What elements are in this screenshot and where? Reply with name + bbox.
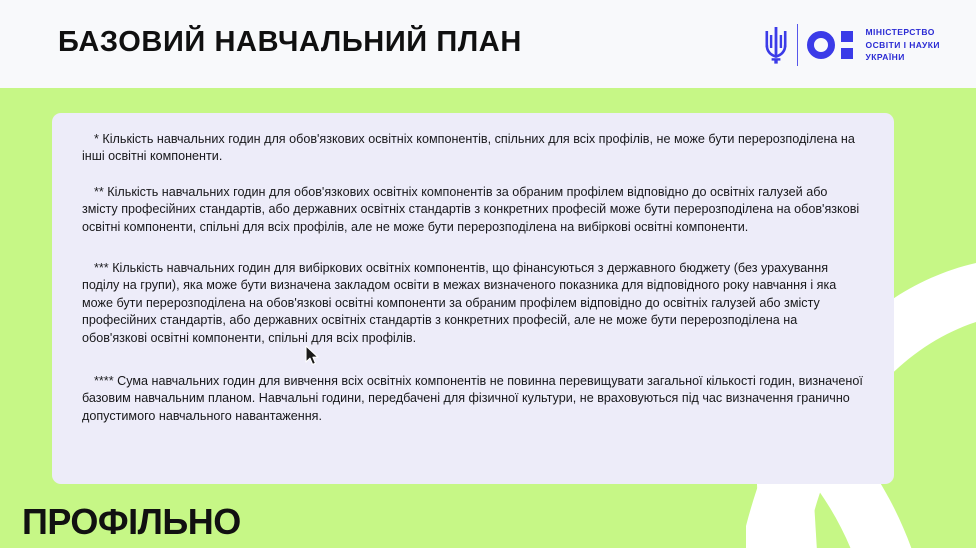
logo-bars-icon [841,31,853,59]
ukraine-trident-icon [764,25,788,65]
brand-wordmark: ПРОФІЛЬНО [22,504,241,540]
ministry-line-2: ОСВІТИ І НАУКИ [866,39,940,52]
logo-circle-icon [807,31,835,59]
ministry-text: МІНІСТЕРСТВО ОСВІТИ І НАУКИ УКРАЇНИ [866,26,940,64]
ministry-line-3: УКРАЇНИ [866,51,940,64]
footnote-item: * Кількість навчальних годин для обов'яз… [82,131,864,166]
page-title: БАЗОВИЙ НАВЧАЛЬНИЙ ПЛАН [58,26,522,59]
content-card: * Кількість навчальних годин для обов'яз… [52,113,894,484]
footnote-item: *** Кількість навчальних годин для вибір… [82,260,864,347]
logo-divider [797,24,798,66]
footnote-item: ** Кількість навчальних годин для обов'я… [82,184,864,236]
slide-root: БАЗОВИЙ НАВЧАЛЬНИЙ ПЛАН [0,0,976,548]
mon-o-equals-icon [807,31,853,59]
footnote-item: **** Сума навчальних годин для вивчення … [82,373,864,425]
ministry-line-1: МІНІСТЕРСТВО [866,26,940,39]
slide-header: БАЗОВИЙ НАВЧАЛЬНИЙ ПЛАН [0,0,976,88]
notes-list: * Кількість навчальних годин для обов'яз… [82,121,864,425]
ministry-logo: МІНІСТЕРСТВО ОСВІТИ І НАУКИ УКРАЇНИ [764,22,940,68]
